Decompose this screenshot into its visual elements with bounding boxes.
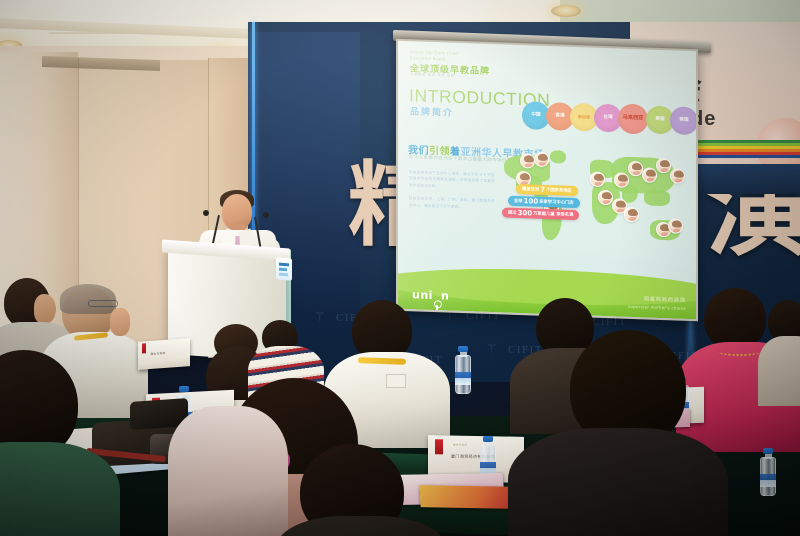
union-logo: unin (412, 288, 449, 302)
conference-room-photo: ⚚ CIFIT ⚚ CIFIT ⚚ CIFIT ⚚ CIFIT ⚚ CIFIT … (0, 0, 800, 536)
attendee-hand (110, 308, 130, 336)
map-landmass-southeast-asia (644, 189, 670, 206)
callout-suffix: 万家庭儿童 享受名课 (533, 211, 573, 218)
map-child-photo (642, 167, 657, 183)
cifit-watermark-logo: ⚚ (486, 342, 499, 357)
map-child-photo (598, 190, 613, 206)
attendee-head (704, 288, 766, 350)
callout-suffix: 多家学习中心门店 (539, 199, 573, 206)
bottle-cap (458, 346, 468, 352)
slide-body-text: 早教品牌源自于亚洲华人地区，致力于为 0-6 岁宝宝提供专业的早期教育课程，多年… (409, 169, 495, 218)
map-child-photo (624, 207, 639, 223)
attendee-glasses-icon (88, 300, 118, 307)
map-child-photo (590, 172, 605, 188)
callout-number: 300 (518, 209, 533, 218)
projected-slide: Global Top Early Child Education Brand 全… (398, 41, 696, 319)
downlight-icon (551, 5, 581, 17)
callout-number: 100 (524, 197, 539, 206)
callout-prefix: 全球 (514, 198, 523, 204)
map-child-photo (614, 172, 629, 188)
map-child-photo (656, 158, 671, 174)
microphone-head-icon (203, 210, 209, 216)
bottle-label (760, 474, 776, 487)
bottle-cap (483, 436, 493, 442)
region-bubble: 马来西亚 (618, 103, 648, 134)
slide-region-bubbles: 中国 香港 新加坡 台湾 马来西亚 泰国 韩国 (522, 101, 696, 141)
bottle-label (455, 372, 471, 385)
cifit-watermark-logo: ⚚ (314, 310, 327, 325)
callout-suffix: 个国家和地区 (546, 187, 572, 194)
slide-paragraph-1: 早教品牌源自于亚洲华人地区，致力于为 0-6 岁宝宝提供专业的早期教育课程，多年… (409, 169, 495, 191)
callout-number: 7 (540, 186, 545, 194)
map-child-photo (628, 161, 643, 177)
table-name-card: 展会代表席 (138, 338, 190, 370)
attendee-shoulders (168, 406, 288, 536)
map-child-photo (520, 153, 535, 169)
slide-title-cn: 品牌简介 (410, 104, 454, 119)
bottle-cap (763, 448, 773, 454)
slide-callout-countries: 覆盖亚洲7个国家和地区 (516, 184, 578, 196)
name-card-text: 展会代表席 (150, 350, 185, 356)
water-bottle (455, 350, 469, 394)
attendee-hair-ring (60, 284, 116, 314)
attendee-necklace (718, 348, 760, 356)
microphone-head-icon (263, 212, 269, 218)
attendee-shoulders (758, 336, 800, 406)
projector-screen-frame: Global Top Early Child Education Brand 全… (396, 39, 698, 322)
slide-tagline-cn: 明星妈妈的选择 (644, 295, 686, 303)
name-card-red-tab (142, 343, 147, 353)
map-child-photo (670, 168, 685, 184)
callout-prefix: 超过 (508, 210, 517, 216)
bottle-cap (179, 386, 189, 392)
attendee-badge (386, 374, 406, 388)
map-child-photo (668, 218, 683, 234)
table-document (419, 485, 516, 509)
attendee-shoulders (508, 428, 728, 536)
water-bottle (760, 430, 782, 496)
map-child-photo (534, 152, 549, 168)
region-bubble: 韩国 (670, 106, 696, 135)
slide-tagline-en: superstar mother's choice (628, 304, 686, 311)
attendee-face (34, 294, 56, 324)
slide-paragraph-2: 目前已在北京、上海、广州、深圳、厦门等城市开设中心，服务超过十万个家庭。 (409, 196, 495, 212)
slide-kicker-small: 北美教育·亚洲·早教·品牌 (410, 72, 455, 79)
callout-prefix: 覆盖亚洲 (522, 186, 539, 193)
map-landmass-greenland (550, 150, 566, 164)
podium-logo-plate (276, 257, 292, 280)
name-card-red-tab (435, 439, 444, 455)
